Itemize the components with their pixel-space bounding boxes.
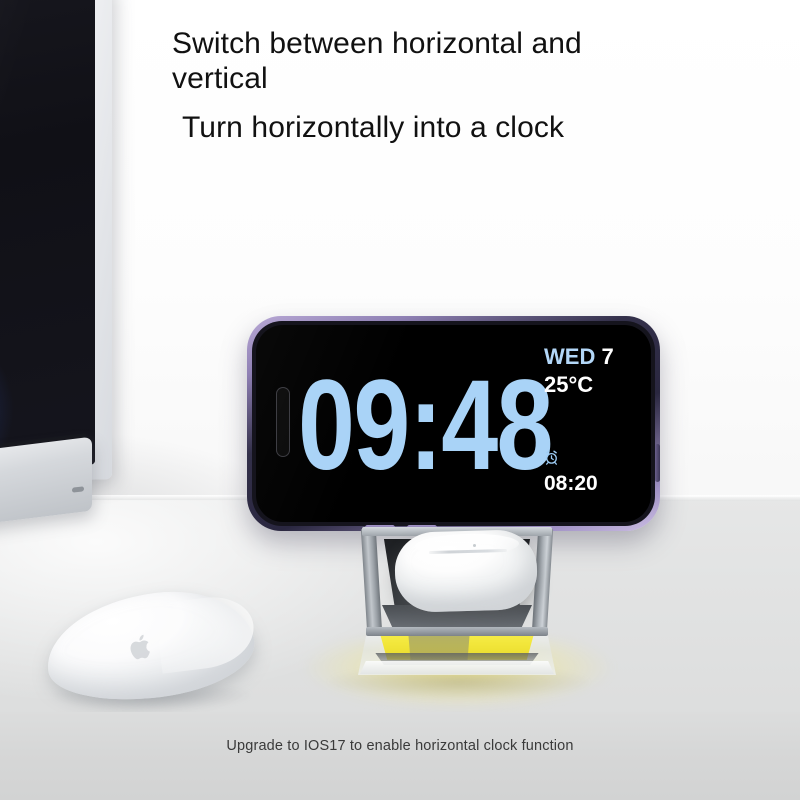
stand-base-front — [360, 661, 554, 674]
airpods-case — [395, 531, 537, 613]
stand-post-left — [361, 529, 382, 633]
airpods-status-led — [473, 544, 476, 547]
stand-bottom-rail — [366, 627, 548, 636]
apple-logo-icon — [126, 632, 157, 663]
laptop-screen — [0, 0, 95, 470]
headline-primary: Switch between horizontal and vertical — [172, 26, 642, 96]
laptop-screen-glare — [0, 0, 95, 470]
caption-text: Upgrade to IOS17 to enable horizontal cl… — [0, 738, 800, 754]
magic-mouse — [46, 588, 261, 708]
macbook-laptop — [0, 0, 126, 542]
product-marketing-image: Switch between horizontal and vertical T… — [0, 0, 800, 800]
phone-screen[interactable]: 09:48 WED 7 25°C — [256, 325, 651, 522]
caption-strip — [0, 712, 800, 800]
screen-glare — [256, 325, 651, 522]
headline-secondary: Turn horizontally into a clock — [182, 110, 612, 145]
phone-power-button[interactable] — [655, 444, 660, 482]
iphone-device: 09:48 WED 7 25°C — [247, 316, 660, 531]
